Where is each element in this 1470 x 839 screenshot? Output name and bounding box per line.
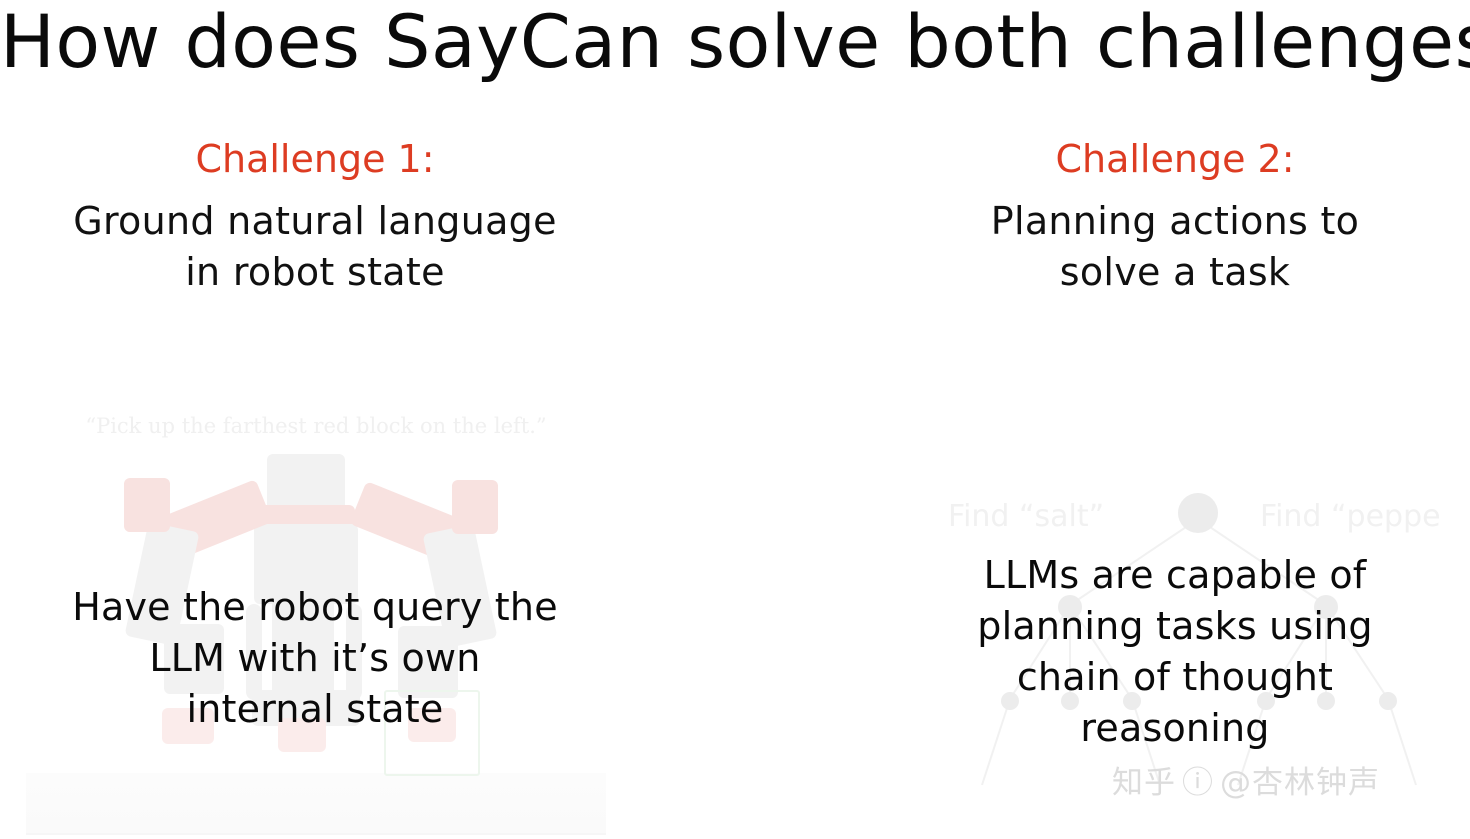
challenge-2-body-line-1: LLMs are capable of: [880, 550, 1470, 601]
zhihu-logo-icon: ⓘ: [1182, 765, 1214, 801]
table-surface: [26, 773, 606, 835]
robot-left-shoulder: [124, 478, 170, 532]
zhihu-watermark: 知乎ⓘ@杏林钟声: [1112, 757, 1380, 802]
challenge-1-subheading-line-2: in robot state: [0, 247, 630, 298]
watermark-site: 知乎: [1112, 765, 1176, 801]
challenge-1-body-line-3: internal state: [0, 684, 630, 735]
challenge-1-body-line-1: Have the robot query the: [0, 582, 630, 633]
challenge-2-subheading: Planning actions to solve a task: [880, 196, 1470, 297]
challenge-2-subheading-line-1: Planning actions to: [880, 196, 1470, 247]
watermark-handle: @杏林钟声: [1220, 765, 1380, 801]
challenge-1-subheading-line-1: Ground natural language: [0, 196, 630, 247]
slide-canvas: How does SayCan solve both challenges? C…: [0, 0, 1470, 839]
challenge-2-heading: Challenge 2:: [880, 140, 1470, 178]
challenge-2-body-line-3: chain of thought: [880, 652, 1470, 703]
challenge-2-body: LLMs are capable of planning tasks using…: [880, 550, 1470, 754]
challenge-1-body: Have the robot query the LLM with it’s o…: [0, 582, 630, 735]
challenge-2-body-line-2: planning tasks using: [880, 601, 1470, 652]
challenge-2-body-line-4: reasoning: [880, 703, 1470, 754]
page-title: How does SayCan solve both challenges?: [0, 6, 1470, 79]
challenge-2-subheading-line-2: solve a task: [880, 247, 1470, 298]
challenge-1-subheading: Ground natural language in robot state: [0, 196, 630, 297]
cot-tree-label-pepper: Find “peppe: [1260, 499, 1441, 534]
robot-right-shoulder: [452, 480, 498, 534]
challenge-1-body-line-2: LLM with it’s own: [0, 633, 630, 684]
cot-tree-label-salt: Find “salt”: [948, 499, 1104, 534]
challenge-1-heading: Challenge 1:: [0, 140, 630, 178]
